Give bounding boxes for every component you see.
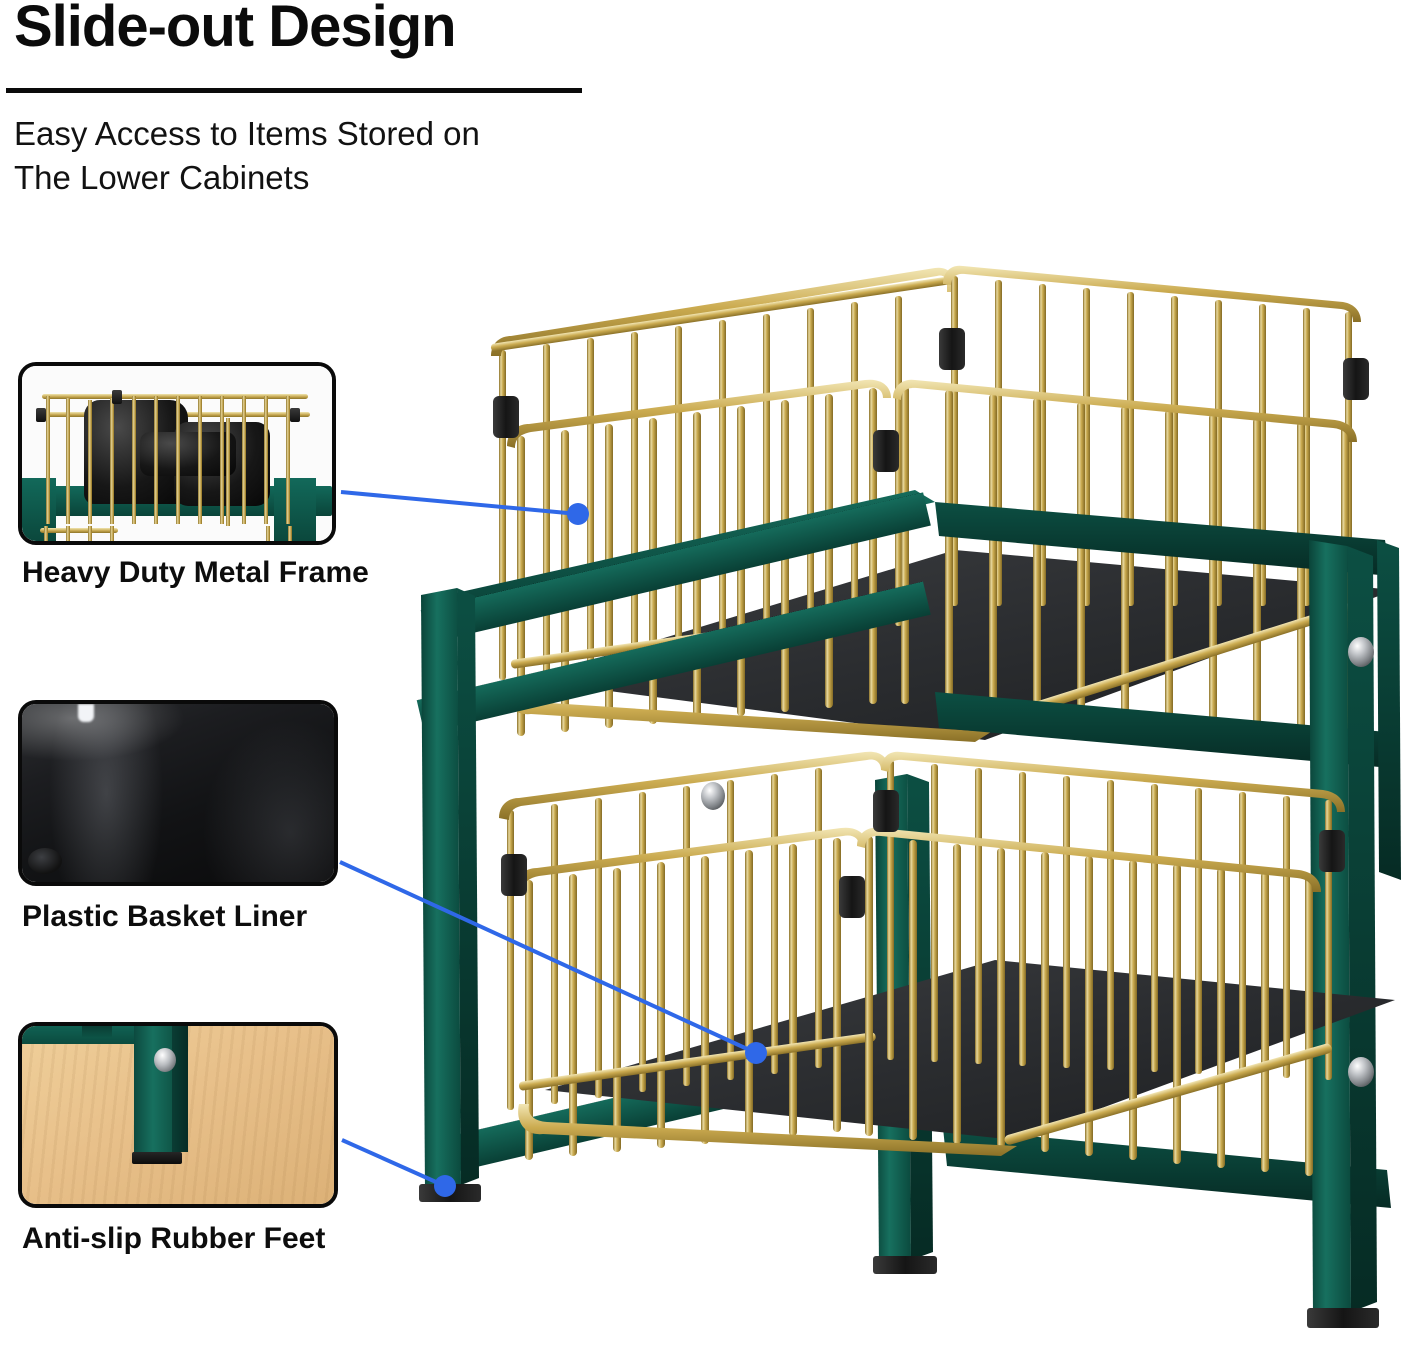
basket-top-rail-back-icon: [42, 394, 308, 399]
basket-wire-icon: [176, 396, 180, 524]
rubber-foot-front-right: [1307, 1308, 1379, 1328]
page-title: Slide-out Design: [14, 0, 456, 56]
page-subtitle: Easy Access to Items Stored on The Lower…: [14, 112, 604, 199]
header-block: Slide-out Design Easy Access to Items St…: [0, 0, 640, 210]
screw-icon: [154, 1048, 176, 1072]
screw-icon: [1348, 1057, 1374, 1087]
lower-basket-wire-icon: [266, 526, 270, 545]
callout-thumbnail-plastic-basket-liner: [18, 700, 338, 886]
callout-label-plastic-basket-liner: Plastic Basket Liner: [22, 900, 307, 934]
frame-leg-rear-right: [1377, 540, 1401, 880]
basket-wire-icon: [220, 396, 224, 524]
rubber-foot-rear-left: [873, 1256, 937, 1274]
upper-basket-right-top-rail: [943, 266, 1361, 322]
lower-basket-wire-icon: [88, 526, 92, 545]
basket-wire-icon: [132, 396, 136, 524]
thumbnail-image-plastic-liner: [22, 704, 334, 882]
rubber-collar-icon: [290, 408, 300, 422]
callout-thumbnail-heavy-duty-metal-frame: [18, 362, 336, 545]
callout-label-anti-slip-rubber-feet: Anti-slip Rubber Feet: [22, 1222, 325, 1256]
specular-highlight-icon: [78, 704, 94, 722]
lower-basket-front-mid-rail: [515, 828, 867, 892]
lower-basket-wire-icon: [44, 526, 48, 545]
basket-wire-icon: [198, 396, 202, 524]
basket-wire-icon: [46, 396, 50, 524]
frame-post-left-icon: [18, 478, 56, 545]
screw-icon: [701, 782, 725, 810]
lower-basket-wire-icon: [110, 526, 114, 545]
thumbnail-image-rubber-feet: [22, 1026, 334, 1204]
basket-wire-icon: [242, 396, 246, 524]
page-subtitle-line-1: Easy Access to Items Stored on: [14, 112, 604, 156]
product-illustration: [395, 240, 1405, 1350]
frame-leg-icon: [134, 1022, 176, 1158]
callout-thumbnail-anti-slip-rubber-feet: [18, 1022, 338, 1208]
basket-wire-icon: [264, 396, 268, 524]
lower-basket-wire-icon: [66, 526, 70, 545]
basket-wire-icon: [154, 396, 158, 524]
lower-basket-rail-icon: [40, 528, 118, 533]
rubber-foot-icon: [132, 1152, 182, 1164]
frame-leg-side-icon: [172, 1022, 188, 1152]
frame-leg-front-left: [421, 588, 461, 1192]
title-divider: [6, 88, 582, 93]
frame-post-right-icon: [274, 478, 316, 545]
upper-basket-rubber-collars: [493, 328, 1369, 472]
basket-divider-wire-icon: [226, 418, 230, 526]
basket-wire-icon: [110, 398, 114, 524]
lower-basket-wire-icon: [288, 526, 292, 545]
basket-wire-icon: [66, 398, 70, 524]
rubber-foot-front-left: [419, 1184, 481, 1202]
page-subtitle-line-2: The Lower Cabinets: [14, 156, 604, 200]
screw-icon: [1348, 637, 1374, 667]
rubber-collar-icon: [36, 408, 46, 422]
callout-label-heavy-duty-metal-frame: Heavy Duty Metal Frame: [22, 556, 369, 590]
basket-wire-icon: [88, 400, 92, 524]
frame-slot-icon: [82, 1026, 112, 1038]
thumbnail-image-metal-frame: [22, 366, 332, 541]
liner-corner-icon: [28, 848, 62, 874]
rubber-collar-icon: [112, 390, 122, 404]
